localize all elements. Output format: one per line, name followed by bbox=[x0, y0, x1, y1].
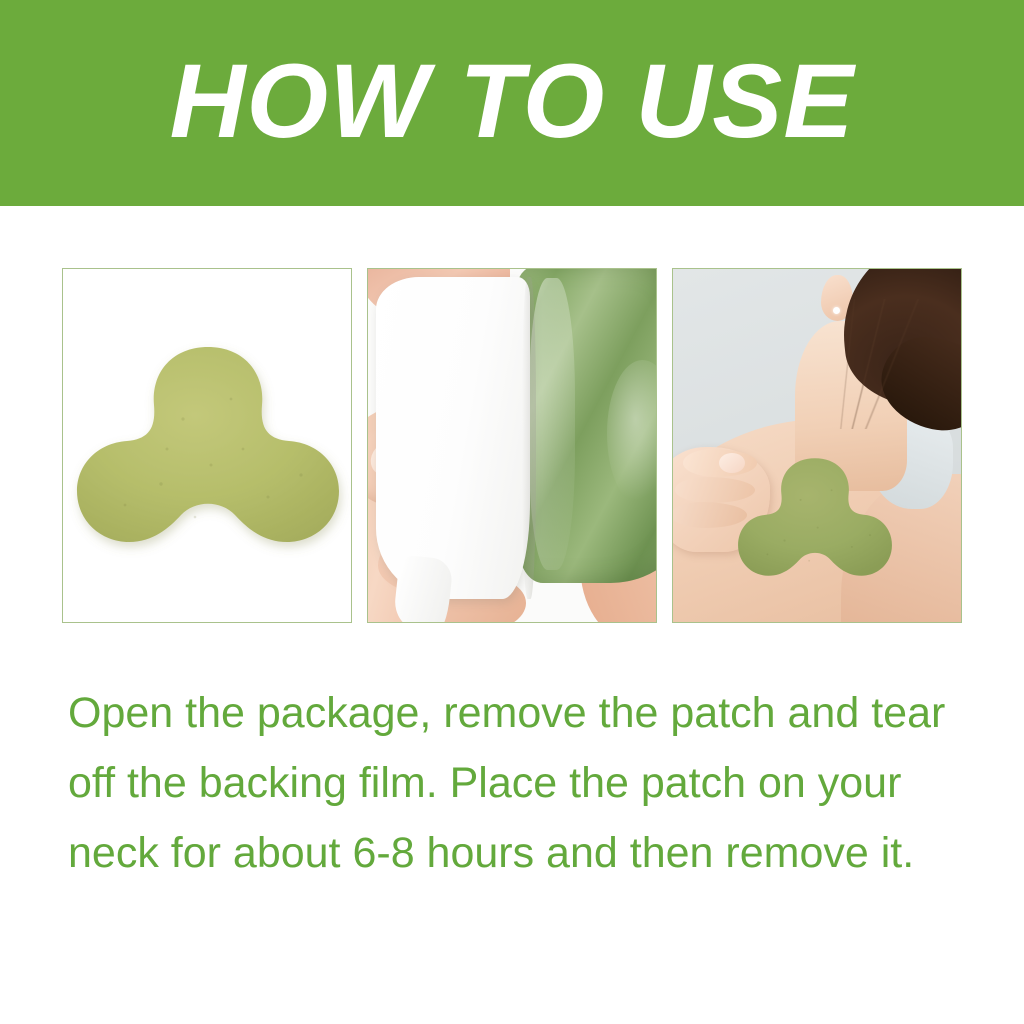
patch-icon-applied bbox=[735, 455, 895, 595]
green-patch-film bbox=[518, 268, 657, 583]
instructions-text: Open the package, remove the patch and t… bbox=[68, 678, 968, 888]
step-panel-1-product bbox=[62, 268, 352, 623]
steps-row bbox=[62, 268, 962, 623]
white-backing-film bbox=[376, 277, 530, 599]
loose-hair-strands bbox=[813, 299, 933, 429]
patch-icon bbox=[63, 269, 352, 622]
applied-patch bbox=[735, 455, 895, 595]
header-band: HOW TO USE bbox=[0, 0, 1024, 206]
page-title: HOW TO USE bbox=[170, 49, 855, 154]
backing-film-corner bbox=[392, 554, 453, 623]
how-to-use-infographic: HOW TO USE bbox=[0, 0, 1024, 1024]
step-panel-3-applied bbox=[672, 268, 962, 623]
step-panel-2-peel-film bbox=[367, 268, 657, 623]
